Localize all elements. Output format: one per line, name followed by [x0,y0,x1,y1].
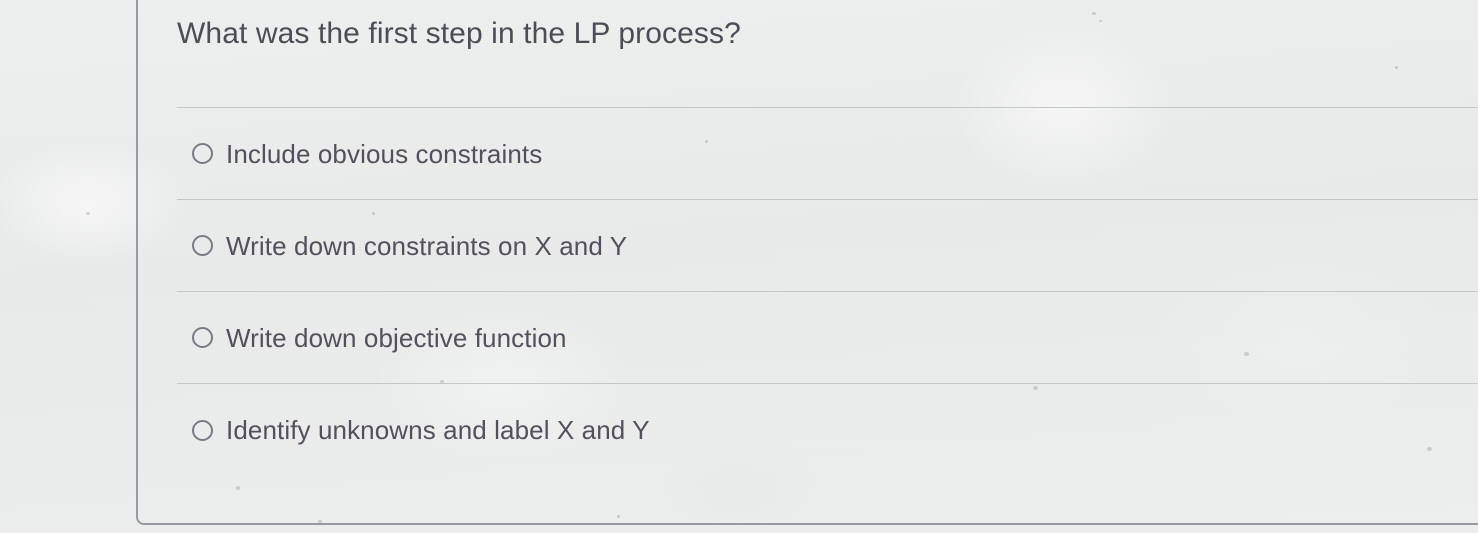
answer-option-label-4: Identify unknowns and label X and Y [226,414,650,446]
answer-option-1[interactable]: Include obvious constraints [177,107,1478,199]
radio-button-icon-1[interactable] [192,143,213,164]
radio-button-icon-3[interactable] [192,327,213,348]
answer-option-3[interactable]: Write down objective function [177,291,1478,383]
radio-button-icon-4[interactable] [192,420,213,441]
answer-option-4[interactable]: Identify unknowns and label X and Y [177,383,1478,476]
question-title: What was the first step in the LP proces… [177,14,1417,54]
radio-button-icon-2[interactable] [192,235,213,256]
answer-options-list: Include obvious constraints Write down c… [177,107,1478,476]
answer-option-label-2: Write down constraints on X and Y [226,230,627,262]
answer-option-2[interactable]: Write down constraints on X and Y [177,199,1478,291]
answer-option-label-1: Include obvious constraints [226,138,542,170]
quiz-page: What was the first step in the LP proces… [0,0,1478,533]
background-speck [86,212,90,215]
answer-option-label-3: Write down objective function [226,322,567,354]
